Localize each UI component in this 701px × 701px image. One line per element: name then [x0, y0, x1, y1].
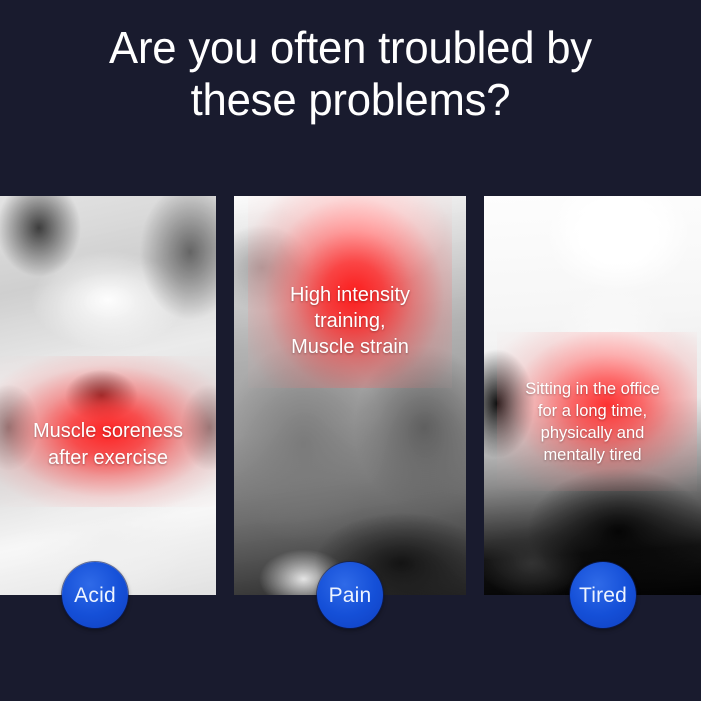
page-title: Are you often troubled by these problems…: [11, 22, 691, 126]
man-shoulder-pain-image: [234, 196, 466, 595]
problem-panel-tired[interactable]: Sitting in the office for a long time, p…: [484, 196, 701, 595]
status-badge-pain[interactable]: Pain: [317, 562, 383, 628]
promo-poster: Are you often troubled by these problems…: [0, 0, 701, 701]
status-badge-tired[interactable]: Tired: [570, 562, 636, 628]
page-title-line-1: Are you often troubled by: [11, 22, 691, 74]
badge-label: Tired: [579, 585, 627, 606]
badge-label: Acid: [74, 585, 116, 606]
status-badge-acid[interactable]: Acid: [62, 562, 128, 628]
panel-caption-tired: Sitting in the office for a long time, p…: [484, 378, 701, 466]
problem-panels: Muscle soreness after exercise High inte…: [0, 196, 701, 595]
woman-back-pain-image: [0, 196, 216, 595]
problem-panel-pain[interactable]: High intensity training, Muscle strain: [234, 196, 466, 595]
badge-label: Pain: [329, 585, 372, 606]
panel-caption-pain: High intensity training, Muscle strain: [234, 282, 466, 360]
problem-panel-acid[interactable]: Muscle soreness after exercise: [0, 196, 216, 595]
page-title-line-2: these problems?: [11, 74, 691, 126]
panel-caption-acid: Muscle soreness after exercise: [0, 418, 216, 472]
